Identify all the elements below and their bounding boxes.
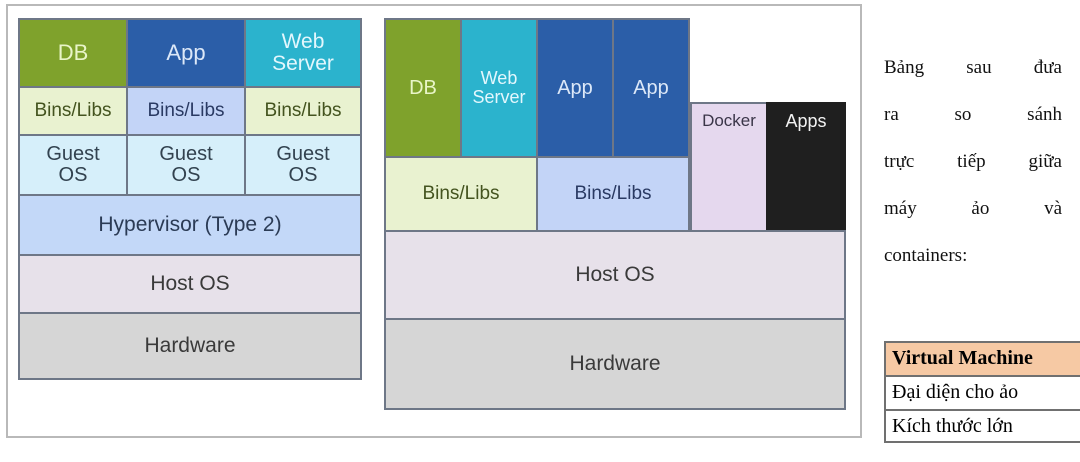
- table-row: Đại diện cho ảo: [884, 375, 1080, 409]
- virtual-machine-stack: DB App WebServer Bins/Libs Bins/Libs Bin…: [18, 18, 362, 422]
- body-word: ảo: [971, 185, 989, 232]
- vm-block-host-os: Host OS: [18, 254, 362, 314]
- vm-block-app: App: [126, 18, 246, 88]
- ct-block-docker: Docker: [690, 102, 768, 232]
- vm-block-guest-os-2: GuestOS: [126, 134, 246, 196]
- body-text-line-3: trực tiếp giữa: [884, 138, 1062, 185]
- vm-block-guest-os-3: GuestOS: [244, 134, 362, 196]
- ct-block-app-2: App: [612, 18, 690, 158]
- body-word: trực: [884, 138, 914, 185]
- ct-block-hardware: Hardware: [384, 318, 846, 410]
- body-text-column: Bảng sau đưa ra so sánh trực tiếp giữa m…: [884, 44, 1062, 279]
- body-word: máy: [884, 185, 917, 232]
- body-word: giữa: [1028, 138, 1062, 185]
- body-word: sánh: [1027, 91, 1062, 138]
- body-text-line-5: containers:: [884, 232, 1062, 279]
- ct-block-db: DB: [384, 18, 462, 158]
- vm-block-hardware: Hardware: [18, 312, 362, 380]
- vm-block-web-server: WebServer: [244, 18, 362, 88]
- table-row: Kích thước lớn: [884, 409, 1080, 443]
- body-text-line-4: máy ảo và: [884, 185, 1062, 232]
- vm-block-db: DB: [18, 18, 128, 88]
- body-word: sau: [966, 44, 991, 91]
- diagrams-frame: DB App WebServer Bins/Libs Bins/Libs Bin…: [6, 4, 862, 438]
- body-word: đưa: [1034, 44, 1062, 91]
- ct-block-bins-libs-2: Bins/Libs: [536, 156, 690, 232]
- body-text-line-1: Bảng sau đưa: [884, 44, 1062, 91]
- body-word: tiếp: [957, 138, 986, 185]
- ct-block-host-os: Host OS: [384, 230, 846, 320]
- table-header-virtual-machine: Virtual Machine: [884, 341, 1080, 375]
- comparison-table: Virtual Machine Đại diện cho ảo Kích thư…: [884, 341, 1080, 443]
- vm-block-hypervisor: Hypervisor (Type 2): [18, 194, 362, 256]
- body-word: ra: [884, 91, 899, 138]
- body-word: containers:: [884, 232, 967, 279]
- ct-block-apps: Apps: [766, 102, 846, 232]
- vm-block-bins-libs-1: Bins/Libs: [18, 86, 128, 136]
- body-text-line-2: ra so sánh: [884, 91, 1062, 138]
- ct-block-bins-libs-1: Bins/Libs: [384, 156, 538, 232]
- body-word: so: [955, 91, 972, 138]
- ct-block-web-server: WebServer: [460, 18, 538, 158]
- vm-block-guest-os-1: GuestOS: [18, 134, 128, 196]
- container-stack: DB WebServer App App Bins/Libs Bins/Libs…: [384, 18, 846, 422]
- ct-block-app-1: App: [536, 18, 614, 158]
- vm-block-bins-libs-2: Bins/Libs: [126, 86, 246, 136]
- body-word: và: [1044, 185, 1062, 232]
- body-word: Bảng: [884, 44, 924, 91]
- vm-block-bins-libs-3: Bins/Libs: [244, 86, 362, 136]
